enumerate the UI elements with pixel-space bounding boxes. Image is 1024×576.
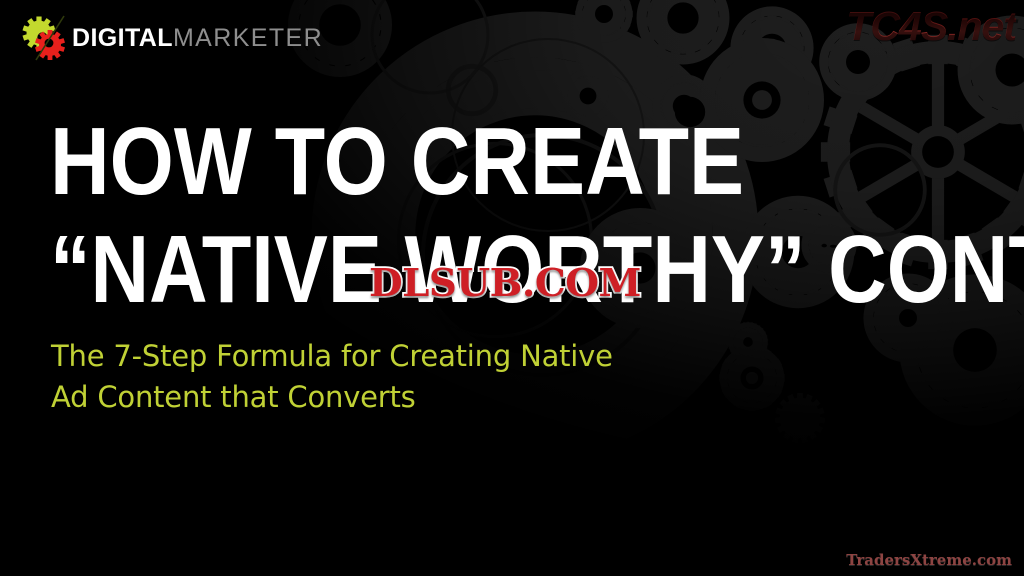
watermark-tradersxtreme: TradersXtreme.com: [846, 551, 1012, 569]
slide-subtitle: The 7-Step Formula for Creating Native A…: [51, 336, 691, 418]
digitalmarketer-logo[interactable]: DIGITAL MARKETER: [18, 14, 323, 62]
subtitle-line-2: Ad Content that Converts: [51, 377, 691, 418]
logo-word-digital: DIGITAL: [72, 26, 173, 51]
headline-line-1: HOW TO CREATE: [50, 108, 858, 216]
presentation-slide: DIGITAL MARKETER HOW TO CREATE “NATIVE W…: [0, 0, 1024, 576]
watermark-dlsub: DLSUB.COM: [369, 262, 641, 304]
logo-word-marketer: MARKETER: [173, 26, 323, 51]
watermark-tc4s: TC4S.net: [846, 2, 1016, 50]
subtitle-line-1: The 7-Step Formula for Creating Native: [51, 336, 691, 377]
logo-gears-icon: [18, 15, 76, 61]
